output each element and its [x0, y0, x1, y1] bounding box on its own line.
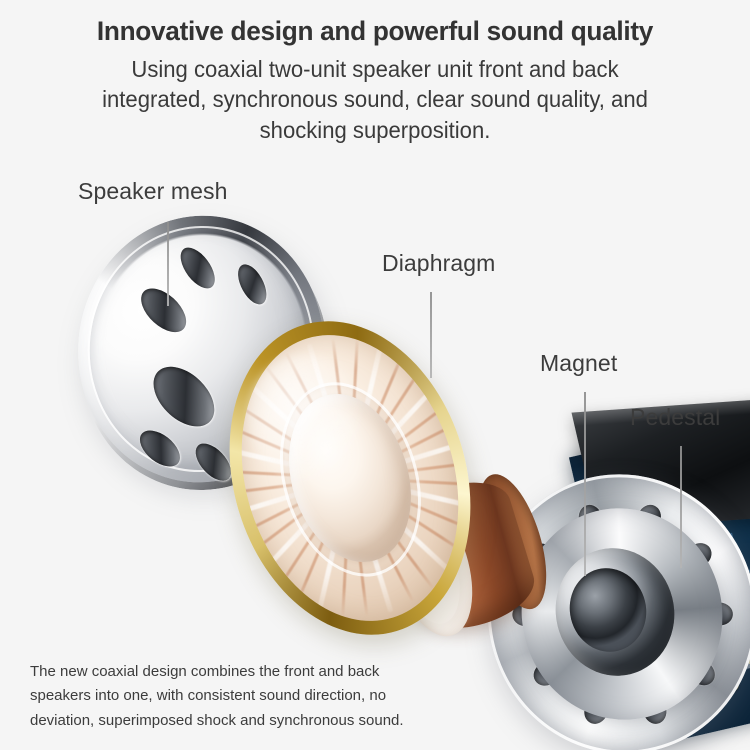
caption-line-1: The new coaxial design combines the fron…: [30, 660, 450, 684]
leader-line-pedestal: [680, 446, 682, 568]
callout-label-pedestal: Pedestal: [630, 404, 720, 431]
leader-line-diaphragm: [430, 292, 432, 378]
diaphragm-part: [192, 291, 507, 665]
caption-line-2: speakers into one, with consistent sound…: [30, 684, 450, 708]
page-title: Innovative design and powerful sound qua…: [11, 0, 739, 48]
subtitle-line-3: shocking superposition.: [15, 115, 735, 146]
subtitle-line-2: integrated, synchronous sound, clear sou…: [15, 84, 735, 115]
callout-label-diaphragm: Diaphragm: [382, 250, 495, 277]
header: Innovative design and powerful sound qua…: [0, 0, 750, 146]
leader-line-magnet: [584, 392, 586, 576]
callout-label-magnet: Magnet: [540, 350, 617, 377]
bottom-caption: The new coaxial design combines the fron…: [30, 660, 450, 733]
page-subtitle: Using coaxial two-unit speaker unit fron…: [15, 54, 735, 146]
infographic-page: Innovative design and powerful sound qua…: [0, 0, 750, 750]
callout-label-speaker-mesh: Speaker mesh: [78, 178, 228, 205]
caption-line-3: deviation, superimposed shock and synchr…: [30, 709, 450, 733]
subtitle-line-1: Using coaxial two-unit speaker unit fron…: [15, 54, 735, 85]
leader-line-speaker-mesh: [167, 222, 169, 306]
